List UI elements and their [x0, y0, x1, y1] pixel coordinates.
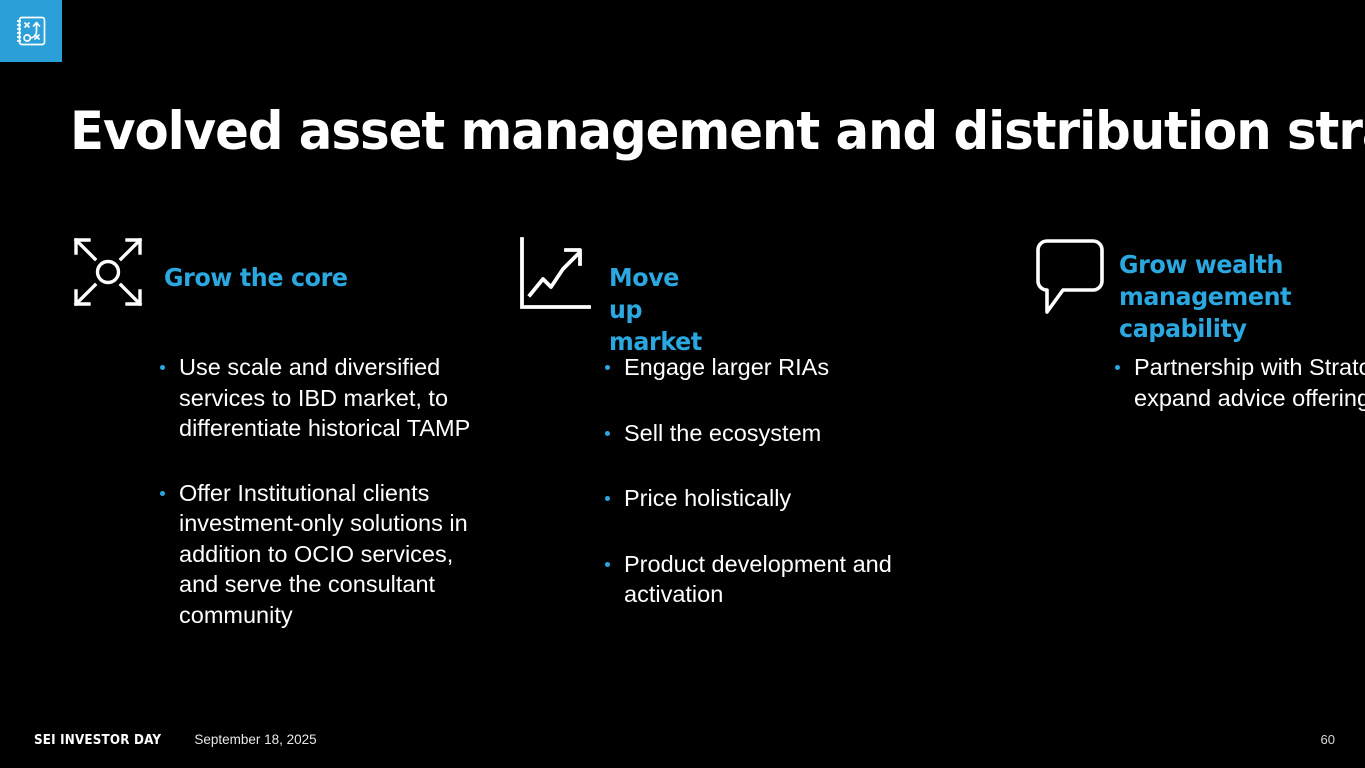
content-columns: Grow the core Use scale and diversified …	[0, 232, 1365, 630]
footer-brand: SEI INVESTOR DAY	[34, 733, 161, 748]
presentation-slide: Evolved asset management and distributio…	[0, 0, 1365, 768]
speech-bubble-icon	[1025, 232, 1105, 320]
page-number: 60	[1321, 732, 1335, 747]
page-title: Evolved asset management and distributio…	[70, 104, 1365, 160]
sei-logo-badge	[0, 0, 62, 62]
footer-date: September 18, 2025	[194, 732, 316, 747]
column-grow-wealth-management: Grow wealth management capability Partne…	[105, 232, 1025, 630]
list-item: Partnership with Stratos to expand advic…	[1115, 352, 1365, 413]
bullet-list: Partnership with Stratos to expand advic…	[1115, 352, 1365, 413]
column-heading: Grow wealth management capability	[1119, 249, 1291, 345]
page-title-text: Evolved asset management and distributio…	[70, 101, 1365, 162]
slide-footer: SEI INVESTOR DAY September 18, 2025	[34, 732, 317, 748]
strategy-playbook-icon	[12, 12, 50, 50]
